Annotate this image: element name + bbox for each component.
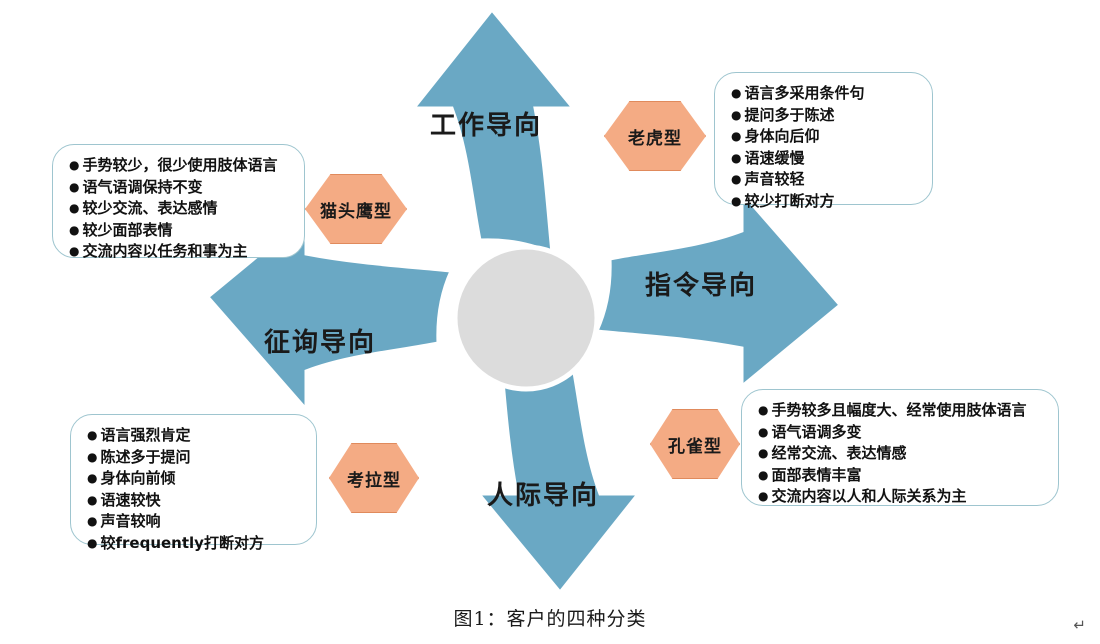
trait-item: 较frequently打断对方 <box>87 533 302 555</box>
trait-item: 较少交流、表达感情 <box>69 198 290 220</box>
trait-item: 语气语调保持不变 <box>69 177 290 199</box>
diagram-canvas: 工作导向 指令导向 征询导向 人际导向 猫头鹰型 老虎型 考拉型 孔雀型 手势较… <box>0 0 1100 644</box>
axis-label-right: 指令导向 <box>645 265 757 302</box>
trait-item: 语言强烈肯定 <box>87 425 302 447</box>
trait-item: 身体向前倾 <box>87 468 302 490</box>
trait-item: 提问多于陈述 <box>731 105 918 127</box>
trait-item: 语言多采用条件句 <box>731 83 918 105</box>
trait-item: 语速缓慢 <box>731 148 918 170</box>
trait-item: 语气语调多变 <box>758 422 1044 444</box>
badge-label-tiger: 老虎型 <box>628 124 682 149</box>
badge-label-koala: 考拉型 <box>347 466 401 491</box>
trait-item: 陈述多于提问 <box>87 447 302 469</box>
trait-box-owl: 手势较少，很少使用肢体语言 语气语调保持不变 较少交流、表达感情 较少面部表情 … <box>52 144 305 258</box>
axis-label-up: 工作导向 <box>430 105 542 142</box>
axis-label-down: 人际导向 <box>487 475 599 512</box>
trait-item: 交流内容以任务和事为主 <box>69 241 290 263</box>
trait-item: 较少打断对方 <box>731 191 918 213</box>
axis-label-left: 征询导向 <box>264 322 376 359</box>
trait-item: 声音较响 <box>87 511 302 533</box>
trait-item: 声音较轻 <box>731 169 918 191</box>
figure-caption: 图1：客户的四种分类 <box>0 604 1100 631</box>
badge-label-peacock: 孔雀型 <box>668 432 722 457</box>
trait-item: 较少面部表情 <box>69 220 290 242</box>
trait-list-koala: 语言强烈肯定 陈述多于提问 身体向前倾 语速较快 声音较响 较frequentl… <box>87 425 302 554</box>
trait-item: 经常交流、表达情感 <box>758 443 1044 465</box>
trait-box-tiger: 语言多采用条件句 提问多于陈述 身体向后仰 语速缓慢 声音较轻 较少打断对方 <box>714 72 933 205</box>
trait-box-koala: 语言强烈肯定 陈述多于提问 身体向前倾 语速较快 声音较响 较frequentl… <box>70 414 317 545</box>
trait-item: 交流内容以人和人际关系为主 <box>758 486 1044 508</box>
trait-list-peacock: 手势较多且幅度大、经常使用肢体语言 语气语调多变 经常交流、表达情感 面部表情丰… <box>758 400 1044 508</box>
trait-item: 语速较快 <box>87 490 302 512</box>
trait-list-owl: 手势较少，很少使用肢体语言 语气语调保持不变 较少交流、表达感情 较少面部表情 … <box>69 155 290 263</box>
trait-list-tiger: 语言多采用条件句 提问多于陈述 身体向后仰 语速缓慢 声音较轻 较少打断对方 <box>731 83 918 212</box>
editor-return-mark: ↵ <box>1073 616 1086 634</box>
trait-item: 身体向后仰 <box>731 126 918 148</box>
center-circle <box>455 247 597 389</box>
trait-item: 手势较少，很少使用肢体语言 <box>69 155 290 177</box>
trait-item: 手势较多且幅度大、经常使用肢体语言 <box>758 400 1044 422</box>
trait-item: 面部表情丰富 <box>758 465 1044 487</box>
trait-box-peacock: 手势较多且幅度大、经常使用肢体语言 语气语调多变 经常交流、表达情感 面部表情丰… <box>741 389 1059 506</box>
badge-label-owl: 猫头鹰型 <box>320 197 392 222</box>
